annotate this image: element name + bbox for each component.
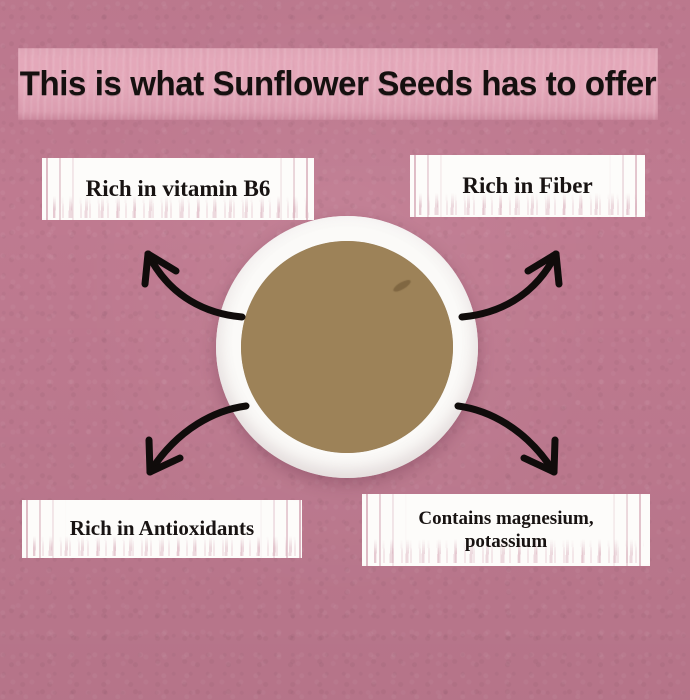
label-text: Rich in Antioxidants [22,500,302,558]
label-text: Rich in Fiber [410,155,645,217]
label-rich-in-vitamin-b6: Rich in vitamin B6 [42,158,314,220]
label-rich-in-fiber: Rich in Fiber [410,155,645,217]
bowl-seeds [241,241,453,453]
arrow-to-mg-icon [448,398,588,498]
seed-bowl [216,216,478,478]
label-text: Rich in vitamin B6 [42,158,314,220]
page-title: This is what Sunflower Seeds has to offe… [28,48,649,120]
label-rich-in-antioxidants: Rich in Antioxidants [22,500,302,558]
infographic-poster: This is what Sunflower Seeds has to offe… [0,0,690,700]
title-banner: This is what Sunflower Seeds has to offe… [18,48,658,120]
arrow-to-fiber-icon [452,222,592,322]
scattered-seed-pile [460,540,690,700]
